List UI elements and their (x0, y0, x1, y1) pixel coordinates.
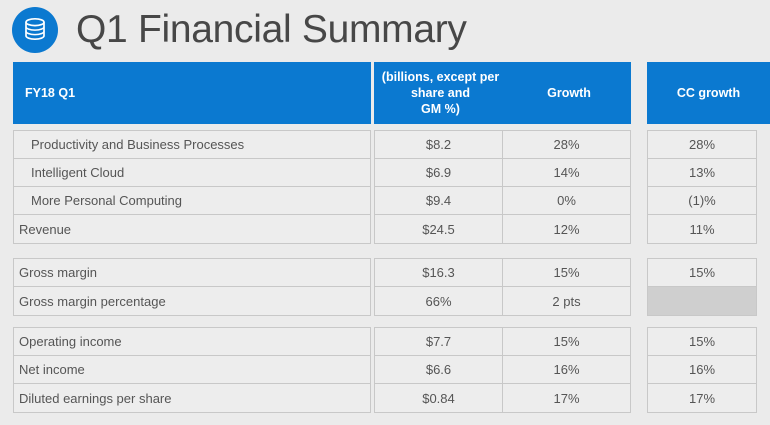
table-row-values: $6.616% (375, 356, 630, 384)
title-bar: Q1 Financial Summary (0, 0, 770, 58)
row-label: Productivity and Business Processes (14, 137, 244, 152)
cell-cc-growth: 11% (648, 215, 756, 243)
table-row-cc: 11% (648, 215, 756, 243)
table-row-cc: 17% (648, 384, 756, 412)
cell-cc-growth-empty (648, 287, 756, 315)
table-row: Gross margin (14, 259, 370, 287)
column-header-amount-line2: share and (382, 85, 499, 101)
cell-amount: $0.84 (375, 384, 503, 412)
cell-cc-growth: (1)% (648, 187, 756, 214)
label-group-3: Operating incomeNet incomeDiluted earnin… (13, 327, 371, 413)
row-label: Gross margin (14, 265, 97, 280)
label-group-1: Productivity and Business ProcessesIntel… (13, 130, 371, 244)
label-group-2: Gross marginGross margin percentage (13, 258, 371, 316)
table-row-values: $7.715% (375, 328, 630, 356)
cell-cc-growth: 16% (648, 356, 756, 383)
column-header-amount-line1: (billions, except per (382, 69, 499, 85)
cell-growth: 17% (503, 384, 630, 412)
row-label: Operating income (14, 334, 122, 349)
table-row-values: 66%2 pts (375, 287, 630, 315)
table-row-values: $16.315% (375, 259, 630, 287)
cell-growth: 15% (503, 259, 630, 286)
cc-growth-group-2: 15% (647, 258, 757, 316)
cell-amount: $6.9 (375, 159, 503, 186)
value-group-3: $7.715%$6.616%$0.8417% (374, 327, 631, 413)
cell-growth: 0% (503, 187, 630, 214)
database-icon (12, 7, 58, 53)
cell-amount: $24.5 (375, 215, 503, 243)
cell-cc-growth: 13% (648, 159, 756, 186)
column-header-amount-line3: GM %) (382, 101, 499, 117)
table-row-cc (648, 287, 756, 315)
table-row-cc: 15% (648, 259, 756, 287)
row-label: Gross margin percentage (14, 294, 166, 309)
cell-amount: $16.3 (375, 259, 503, 286)
table-row-cc: 13% (648, 159, 756, 187)
table-row: Diluted earnings per share (14, 384, 370, 412)
table-row: Revenue (14, 215, 370, 243)
value-group-1: $8.228%$6.914%$9.40%$24.512% (374, 130, 631, 244)
table-row: Intelligent Cloud (14, 159, 370, 187)
cell-amount: $7.7 (375, 328, 503, 355)
table-row: Productivity and Business Processes (14, 131, 370, 159)
cell-growth: 15% (503, 328, 630, 355)
cell-amount: $9.4 (375, 187, 503, 214)
table-row-cc: 28% (648, 131, 756, 159)
table-row-values: $0.8417% (375, 384, 630, 412)
table-row-values: $9.40% (375, 187, 630, 215)
value-group-2: $16.315%66%2 pts (374, 258, 631, 316)
table-row-values: $6.914% (375, 159, 630, 187)
cell-growth: 28% (503, 131, 630, 158)
page-title: Q1 Financial Summary (76, 10, 467, 49)
table-row: More Personal Computing (14, 187, 370, 215)
row-label: Revenue (14, 222, 71, 237)
cell-growth: 14% (503, 159, 630, 186)
cell-growth: 2 pts (503, 287, 630, 315)
row-label: Net income (14, 362, 85, 377)
cell-growth: 12% (503, 215, 630, 243)
cell-cc-growth: 15% (648, 259, 756, 286)
table-row-cc: (1)% (648, 187, 756, 215)
table-row-cc: 15% (648, 328, 756, 356)
column-header-growth: Growth (507, 62, 631, 124)
table-row: Net income (14, 356, 370, 384)
cell-cc-growth: 15% (648, 328, 756, 355)
table-row: Gross margin percentage (14, 287, 370, 315)
table-row-cc: 16% (648, 356, 756, 384)
cc-growth-group-1: 28%13%(1)%11% (647, 130, 757, 244)
cell-cc-growth: 17% (648, 384, 756, 412)
cc-growth-group-3: 15%16%17% (647, 327, 757, 413)
cell-amount: $8.2 (375, 131, 503, 158)
cell-growth: 16% (503, 356, 630, 383)
table-row-values: $24.512% (375, 215, 630, 243)
column-header-amount: (billions, except per share and GM %) (374, 62, 507, 124)
table-row-values: $8.228% (375, 131, 630, 159)
table-header-row: FY18 Q1 (billions, except per share and … (13, 62, 757, 124)
column-header-cc-growth: CC growth (647, 62, 770, 124)
row-label: More Personal Computing (14, 193, 182, 208)
row-label: Intelligent Cloud (14, 165, 124, 180)
column-header-period: FY18 Q1 (13, 62, 371, 124)
cell-amount: $6.6 (375, 356, 503, 383)
cell-cc-growth: 28% (648, 131, 756, 158)
row-label: Diluted earnings per share (14, 391, 171, 406)
cell-amount: 66% (375, 287, 503, 315)
table-row: Operating income (14, 328, 370, 356)
